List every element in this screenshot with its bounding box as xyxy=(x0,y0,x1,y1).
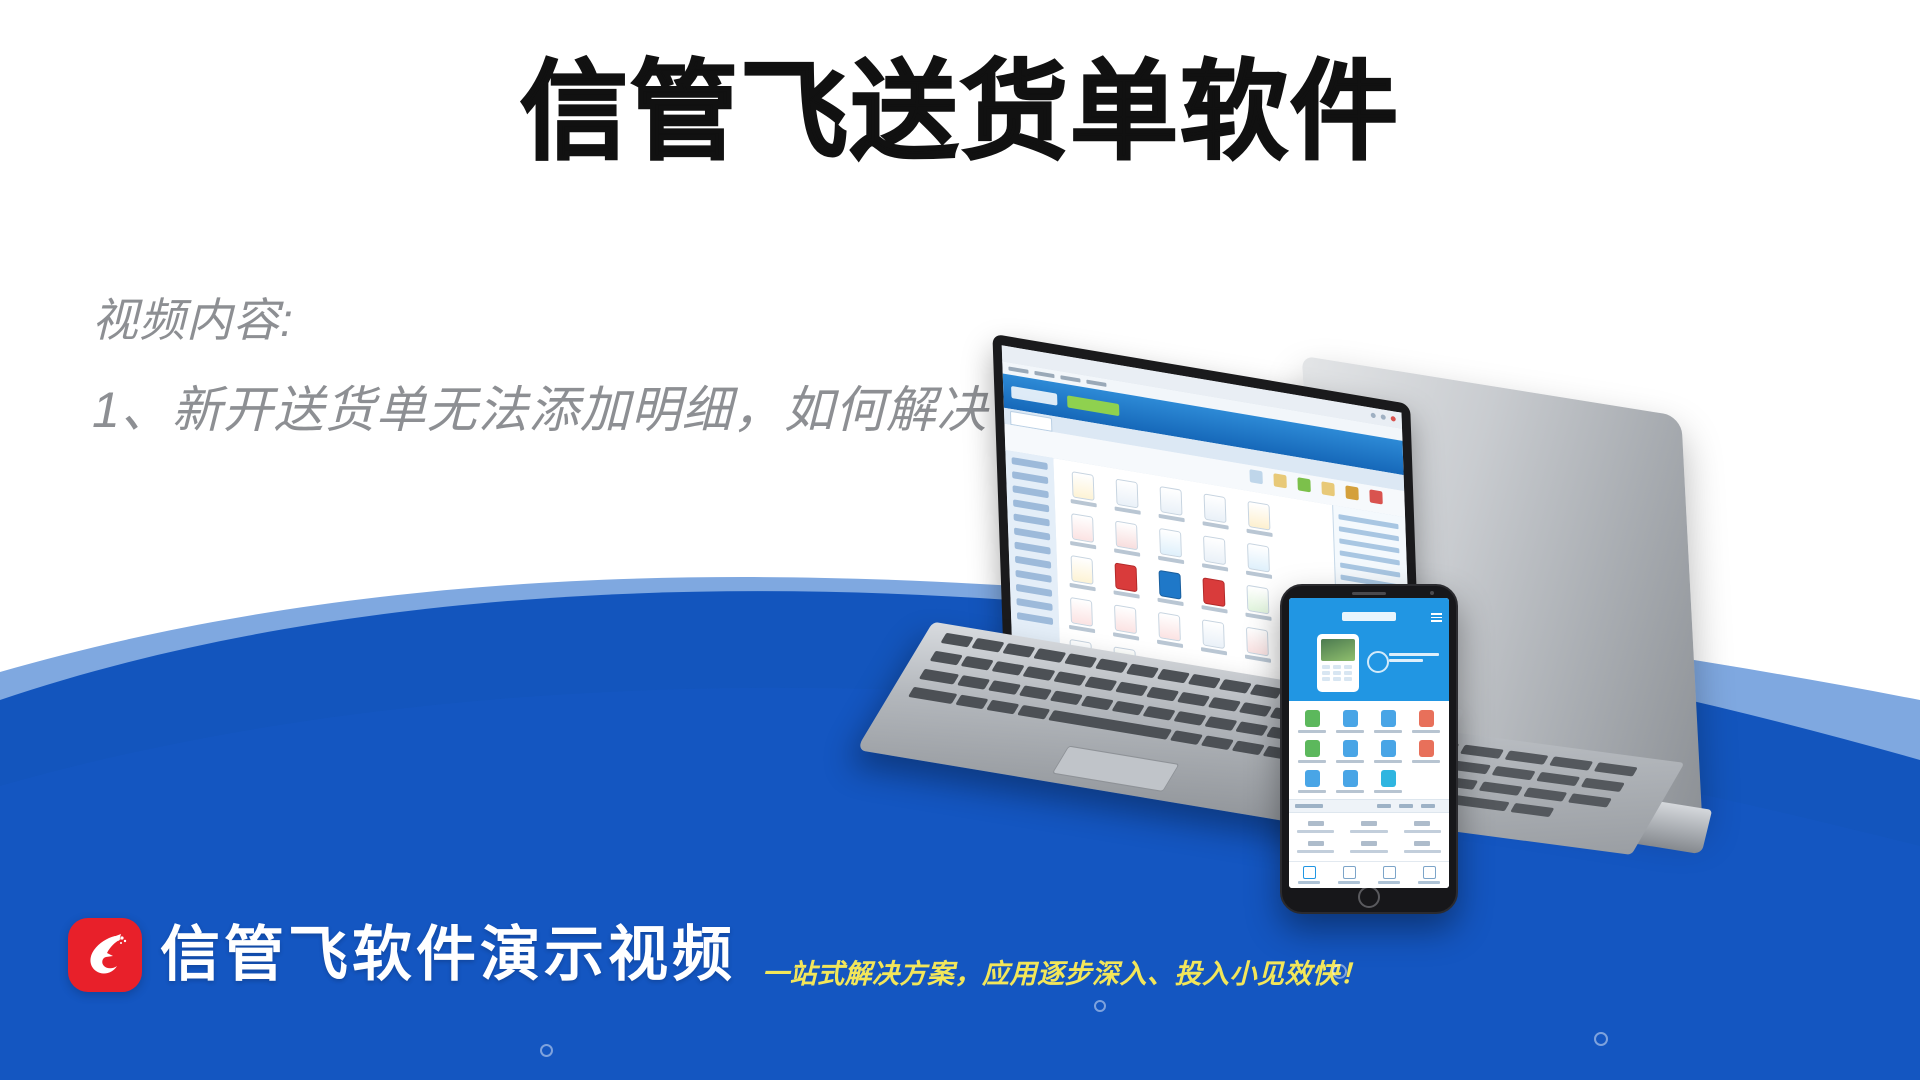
module-icon[interactable] xyxy=(1069,555,1096,592)
phone-section-bar xyxy=(1289,799,1449,813)
grid-row[interactable] xyxy=(1293,707,1445,737)
module-icon[interactable] xyxy=(1068,597,1095,634)
phone-illustration xyxy=(1317,634,1359,692)
stat-cell xyxy=(1289,817,1342,837)
tree-menu-icon[interactable] xyxy=(1014,527,1050,540)
home-icon[interactable] xyxy=(1289,862,1329,888)
purchase-inbound-icon[interactable] xyxy=(1331,737,1369,767)
tree-menu-icon[interactable] xyxy=(1014,513,1050,526)
decoration-ring-icon xyxy=(540,1044,553,1057)
decoration-ring-icon xyxy=(1594,1032,1608,1046)
illustration-screen xyxy=(1321,639,1355,661)
app-sidebar[interactable] xyxy=(1005,450,1061,651)
module-icon[interactable] xyxy=(1158,486,1185,523)
phone-screen xyxy=(1289,598,1449,888)
sales-receipt-icon[interactable] xyxy=(1407,707,1445,737)
inventory-transfer-icon[interactable] xyxy=(1293,767,1331,797)
front-camera-icon xyxy=(1430,591,1434,595)
window-controls-icon xyxy=(1381,414,1386,420)
open-folder-icon[interactable] xyxy=(1273,473,1286,488)
decoration-ring-icon xyxy=(1332,964,1347,979)
smartphone-mockup xyxy=(1280,584,1458,914)
stats-row xyxy=(1289,817,1449,837)
earpiece-speaker-icon xyxy=(1352,592,1386,595)
report-icon[interactable] xyxy=(1369,862,1409,888)
module-icon[interactable] xyxy=(1157,528,1184,565)
window-controls-icon xyxy=(1371,412,1376,418)
hero-caption-lines xyxy=(1389,653,1439,665)
device-mockup-group xyxy=(880,370,1920,1020)
page-title: 信管飞送货单软件 xyxy=(0,48,1920,175)
signal-battery-icon xyxy=(1289,598,1449,607)
module-icon[interactable] xyxy=(1113,520,1140,557)
settings-icon[interactable] xyxy=(1345,485,1358,500)
purchase-return-icon[interactable] xyxy=(1369,737,1407,767)
tree-menu-icon[interactable] xyxy=(1013,485,1049,498)
tree-menu-icon[interactable] xyxy=(1013,499,1049,512)
phone-stats-block xyxy=(1289,813,1449,861)
stat-cell xyxy=(1342,837,1395,857)
module-icon[interactable] xyxy=(1244,626,1271,663)
module-icon[interactable] xyxy=(1202,493,1229,530)
footer-brand: 信管飞软件演示视频 xyxy=(68,918,736,992)
hamburger-menu-icon[interactable] xyxy=(1431,613,1442,621)
module-icon[interactable] xyxy=(1244,584,1271,621)
home-button-icon[interactable] xyxy=(1358,886,1380,908)
grid-spacer xyxy=(1407,767,1445,797)
phone-module-grid[interactable] xyxy=(1289,701,1449,799)
module-icon[interactable] xyxy=(1201,535,1228,572)
sales-order-icon[interactable] xyxy=(1293,707,1331,737)
grid-row[interactable] xyxy=(1293,767,1445,797)
module-icon[interactable] xyxy=(1157,570,1184,607)
exit-icon[interactable] xyxy=(1369,489,1382,504)
bank-transfer-icon[interactable] xyxy=(1331,767,1369,797)
phone-tabbar[interactable] xyxy=(1289,861,1449,888)
module-icon[interactable] xyxy=(1112,604,1139,641)
module-icon[interactable] xyxy=(1246,500,1273,537)
tree-menu-icon[interactable] xyxy=(1015,556,1051,569)
tree-menu-icon[interactable] xyxy=(1012,471,1048,484)
stat-cell xyxy=(1396,837,1449,857)
module-icon[interactable] xyxy=(1201,577,1228,614)
footer-slogan: 一站式解决方案，应用逐步深入、投入小见效快！ xyxy=(762,952,1367,991)
tree-menu-icon[interactable] xyxy=(1015,570,1051,583)
print-icon[interactable] xyxy=(1321,481,1334,496)
stat-cell xyxy=(1342,817,1395,837)
module-icon[interactable] xyxy=(1200,619,1227,656)
module-icon[interactable] xyxy=(1070,471,1097,508)
more-grid-icon[interactable] xyxy=(1369,767,1407,797)
sales-return-icon[interactable] xyxy=(1369,707,1407,737)
tree-menu-icon[interactable] xyxy=(1012,457,1048,470)
module-icon[interactable] xyxy=(1245,542,1272,579)
stat-cell xyxy=(1396,817,1449,837)
tree-menu-icon[interactable] xyxy=(1017,612,1053,625)
green-badge-icon xyxy=(1067,395,1119,416)
app-logo-icon xyxy=(1011,386,1057,406)
save-icon[interactable] xyxy=(1297,477,1310,492)
module-icon[interactable] xyxy=(1156,611,1183,648)
module-icon[interactable] xyxy=(1114,478,1141,515)
sync-ring-icon xyxy=(1367,651,1389,673)
stats-row xyxy=(1289,837,1449,857)
xinguanfei-bird-logo-icon xyxy=(68,918,142,992)
module-icon[interactable] xyxy=(1113,562,1140,599)
grid-row[interactable] xyxy=(1293,737,1445,767)
decoration-ring-icon xyxy=(1094,1000,1106,1012)
video-content-heading: 视频内容: xyxy=(92,286,1039,355)
illustration-keypad xyxy=(1322,665,1354,687)
device-illustration-icon xyxy=(1289,627,1449,701)
stat-cell xyxy=(1289,837,1342,857)
brand-name-text: 信管飞软件演示视频 xyxy=(160,925,736,985)
tree-menu-icon[interactable] xyxy=(1016,598,1052,611)
module-icon[interactable] xyxy=(1069,513,1096,550)
purchase-order-icon[interactable] xyxy=(1293,737,1331,767)
workbench-icon[interactable] xyxy=(1329,862,1369,888)
new-document-icon[interactable] xyxy=(1249,469,1262,484)
phone-app-header xyxy=(1289,607,1449,627)
sales-outbound-icon[interactable] xyxy=(1331,707,1369,737)
tree-menu-icon[interactable] xyxy=(1016,584,1052,597)
purchase-payment-icon[interactable] xyxy=(1407,737,1445,767)
window-controls-icon xyxy=(1391,416,1396,422)
app-title-icon xyxy=(1342,612,1396,621)
profile-icon[interactable] xyxy=(1409,862,1449,888)
tree-menu-icon[interactable] xyxy=(1014,542,1050,555)
bird-glyph xyxy=(77,927,133,983)
presentation-slide: 信管飞送货单软件 视频内容: 1、新开送货单无法添加明细，如何解决？ xyxy=(0,0,1920,1080)
